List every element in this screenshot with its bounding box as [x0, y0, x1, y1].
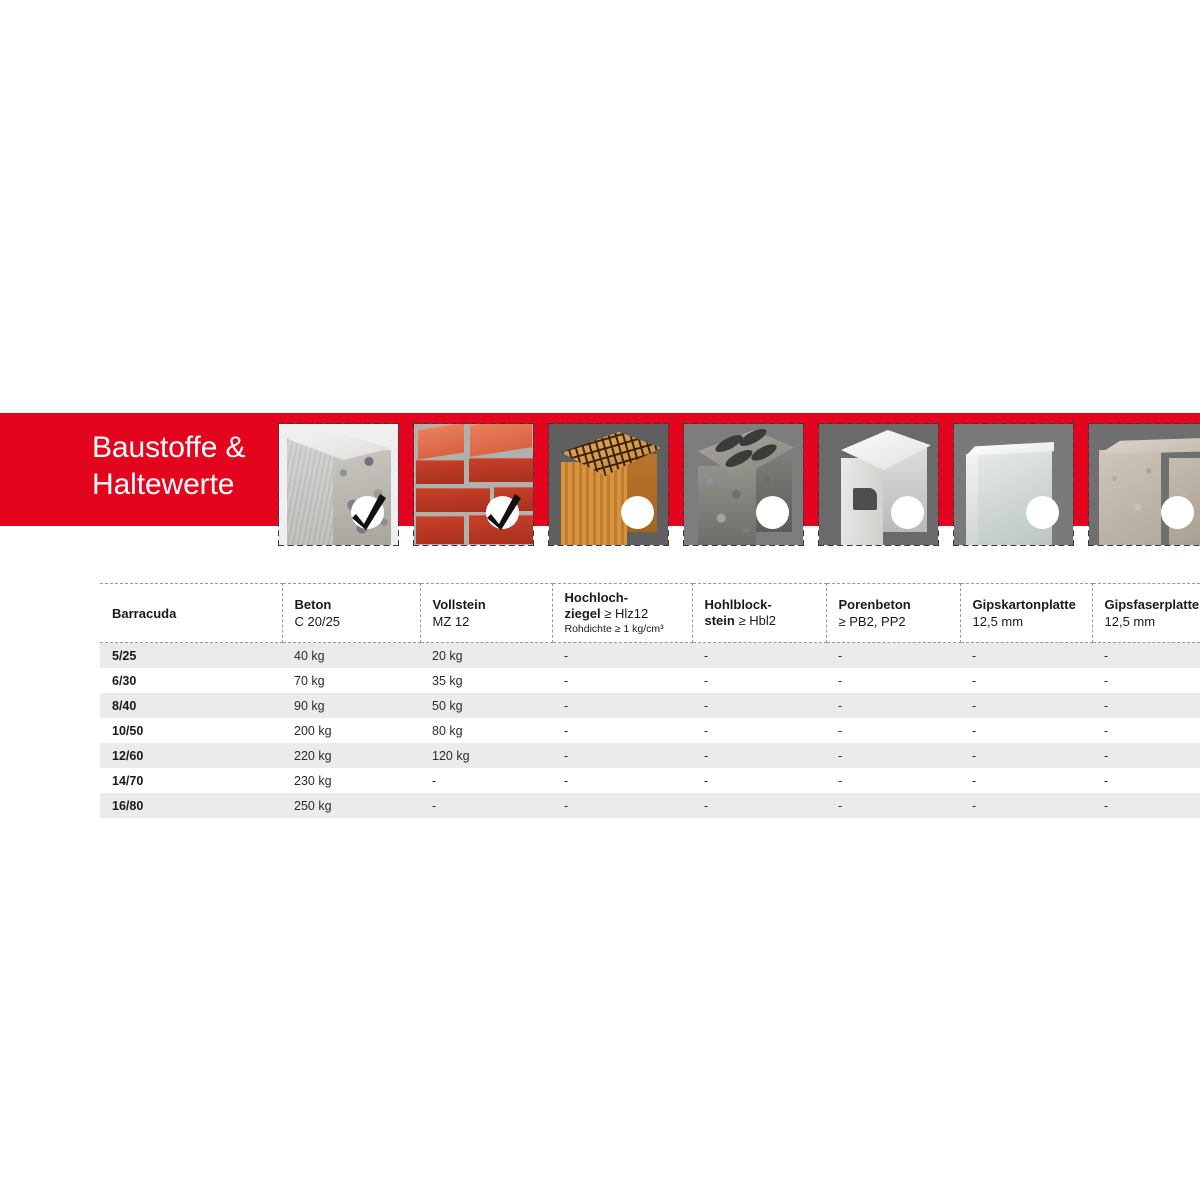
- cell-value: -: [1092, 743, 1200, 768]
- gipskartonplatte-image: [954, 424, 1073, 545]
- cell-value: -: [826, 718, 960, 743]
- cell-value: -: [826, 768, 960, 793]
- cell-value: -: [552, 718, 692, 743]
- cell-value: 250 kg: [282, 793, 420, 818]
- cell-value: -: [552, 743, 692, 768]
- table-row: 14/70230 kg------: [100, 768, 1200, 793]
- cell-size: 14/70: [100, 768, 282, 793]
- holding-values-table: Barracuda Beton C 20/25 Vollstein MZ 12 …: [100, 583, 1200, 818]
- porenbeton-image: [819, 424, 938, 545]
- circle-marker-hochlochziegel: [621, 496, 654, 529]
- cell-size: 5/25: [100, 643, 282, 669]
- col-header-gipskartonplatte: Gipskartonplatte 12,5 mm: [960, 584, 1092, 643]
- cell-value: 200 kg: [282, 718, 420, 743]
- cell-size: 6/30: [100, 668, 282, 693]
- cell-value: 70 kg: [282, 668, 420, 693]
- table-row: 12/60220 kg120 kg-----: [100, 743, 1200, 768]
- cell-value: -: [552, 668, 692, 693]
- table-row: 8/4090 kg50 kg-----: [100, 693, 1200, 718]
- table-row: 16/80250 kg------: [100, 793, 1200, 818]
- circle-marker-porenbeton: [891, 496, 924, 529]
- cell-value: -: [960, 743, 1092, 768]
- material-tile-beton[interactable]: [279, 424, 398, 545]
- cell-value: -: [1092, 643, 1200, 669]
- circle-marker-gipsfaserplatte: [1161, 496, 1194, 529]
- cell-size: 16/80: [100, 793, 282, 818]
- material-tile-hochlochziegel[interactable]: [549, 424, 668, 545]
- cell-value: -: [1092, 768, 1200, 793]
- hochlochziegel-image: [549, 424, 668, 545]
- cell-value: -: [1092, 668, 1200, 693]
- cell-value: -: [692, 693, 826, 718]
- cell-value: -: [692, 643, 826, 669]
- material-tile-gipsfaserplatte[interactable]: [1089, 424, 1200, 545]
- col-header-gipsfaserplatte: Gipsfaserplatte 12,5 mm: [1092, 584, 1200, 643]
- cell-value: 35 kg: [420, 668, 552, 693]
- cell-value: -: [1092, 793, 1200, 818]
- cell-value: -: [552, 693, 692, 718]
- cell-value: 120 kg: [420, 743, 552, 768]
- cell-value: -: [826, 743, 960, 768]
- circle-marker-gipskartonplatte: [1026, 496, 1059, 529]
- cell-value: -: [826, 793, 960, 818]
- circle-marker-hohlblockstein: [756, 496, 789, 529]
- cell-value: 50 kg: [420, 693, 552, 718]
- cell-value: -: [552, 643, 692, 669]
- cell-value: -: [552, 768, 692, 793]
- cell-value: -: [420, 793, 552, 818]
- cell-value: -: [1092, 718, 1200, 743]
- cell-size: 8/40: [100, 693, 282, 718]
- cell-size: 12/60: [100, 743, 282, 768]
- material-tile-porenbeton[interactable]: [819, 424, 938, 545]
- banner-title: Baustoffe & Haltewerte: [92, 429, 282, 503]
- table-row: 10/50200 kg80 kg-----: [100, 718, 1200, 743]
- table-header-row: Barracuda Beton C 20/25 Vollstein MZ 12 …: [100, 584, 1200, 643]
- cell-value: -: [1092, 693, 1200, 718]
- cell-value: -: [420, 768, 552, 793]
- cell-value: -: [692, 743, 826, 768]
- cell-value: -: [826, 643, 960, 669]
- material-tile-strip: [279, 424, 1200, 545]
- col-header-porenbeton: Porenbeton ≥ PB2, PP2: [826, 584, 960, 643]
- cell-value: 230 kg: [282, 768, 420, 793]
- cell-value: -: [692, 793, 826, 818]
- checkmark-icon-vollstein: [486, 496, 519, 529]
- col-header-beton: Beton C 20/25: [282, 584, 420, 643]
- col-header-hochlochziegel: Hochloch- ziegel ≥ Hlz12 Rohdichte ≥ 1 k…: [552, 584, 692, 643]
- cell-value: -: [692, 768, 826, 793]
- cell-value: 220 kg: [282, 743, 420, 768]
- holding-values-table-wrapper: Barracuda Beton C 20/25 Vollstein MZ 12 …: [100, 583, 1200, 818]
- cell-value: -: [960, 718, 1092, 743]
- material-tile-hohlblockstein[interactable]: [684, 424, 803, 545]
- cell-value: 90 kg: [282, 693, 420, 718]
- cell-value: -: [692, 718, 826, 743]
- table-row: 5/2540 kg20 kg-----: [100, 643, 1200, 669]
- col-header-hohlblockstein: Hohlblock- stein ≥ Hbl2: [692, 584, 826, 643]
- hohlblockstein-image: [684, 424, 803, 545]
- col-header-vollstein: Vollstein MZ 12: [420, 584, 552, 643]
- cell-value: 20 kg: [420, 643, 552, 669]
- material-tile-gipskartonplatte[interactable]: [954, 424, 1073, 545]
- cell-value: -: [960, 643, 1092, 669]
- cell-value: -: [826, 668, 960, 693]
- cell-value: -: [960, 768, 1092, 793]
- checkmark-icon-beton: [351, 496, 384, 529]
- cell-size: 10/50: [100, 718, 282, 743]
- cell-value: -: [826, 693, 960, 718]
- cell-value: -: [552, 793, 692, 818]
- cell-value: -: [960, 668, 1092, 693]
- cell-value: -: [960, 793, 1092, 818]
- cell-value: 80 kg: [420, 718, 552, 743]
- table-body: 5/2540 kg20 kg-----6/3070 kg35 kg-----8/…: [100, 643, 1200, 819]
- cell-value: -: [692, 668, 826, 693]
- material-tile-vollstein[interactable]: [414, 424, 533, 545]
- col-header-barracuda: Barracuda: [100, 584, 282, 643]
- cell-value: -: [960, 693, 1092, 718]
- table-row: 6/3070 kg35 kg-----: [100, 668, 1200, 693]
- page-root: Baustoffe & Haltewerte: [0, 0, 1200, 1200]
- cell-value: 40 kg: [282, 643, 420, 669]
